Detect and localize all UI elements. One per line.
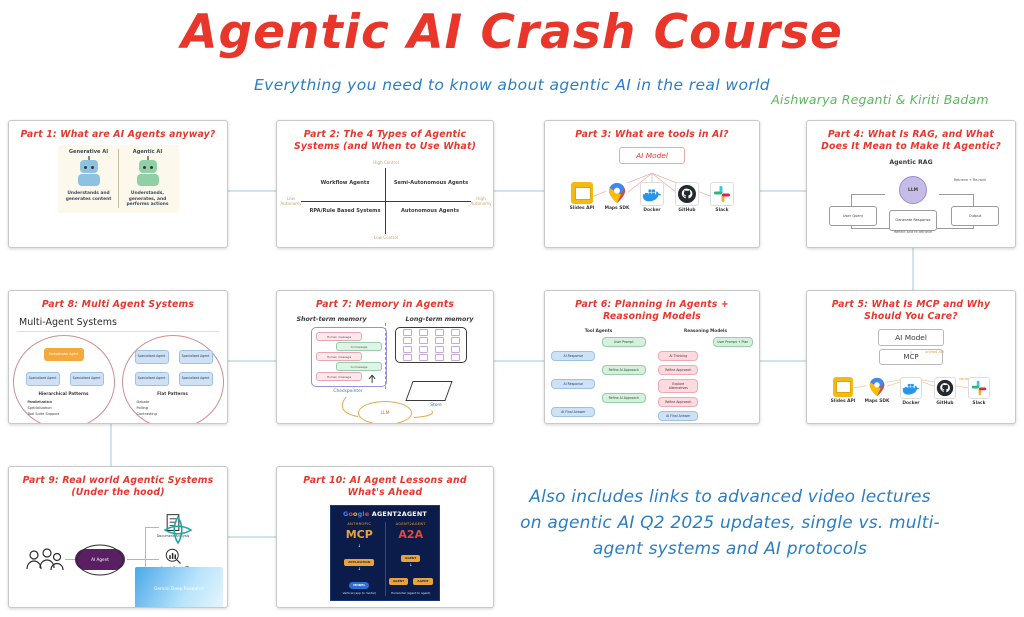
agentic-ai-caption: Understands, generates, and performs act… (119, 191, 177, 208)
short-term-memory-header: Short-term memory (296, 316, 366, 323)
authors-credit: Aishwarya Reganti & Kiriti Badam (750, 92, 1010, 107)
page-title: Agentic AI Crash Course (0, 2, 1024, 64)
tool-label: Slack (709, 208, 735, 213)
agent2agent-word: AGENT2AGENT (372, 510, 427, 518)
card-part-2-body: High Control Low Control Low Autonomy Hi… (277, 158, 493, 242)
burst-star-icon (163, 515, 193, 545)
card-part-9-title: Part 9: Real world Agentic Systems (Unde… (9, 467, 227, 501)
docker-icon (640, 182, 664, 206)
planning-bubble: AI Response (551, 379, 595, 389)
memory-headers: Short-term memory Long-term memory (277, 316, 493, 323)
p9-edge-agent-branch (127, 559, 145, 560)
tool-slack[interactable]: Slack (966, 377, 992, 406)
tool-slack[interactable]: Slack (709, 182, 735, 213)
connector-r2-c7-c8 (228, 360, 276, 362)
rag-edge-top (851, 194, 885, 195)
card-part-7-body: Short-term memory Long-term memory Human… (277, 316, 493, 424)
google-wordmark: Google (343, 510, 369, 518)
tool-label: Maps SDK (604, 206, 630, 211)
connector-r1-c1-c2 (228, 190, 276, 192)
gemini-deep-research-tile: Gemini Deep Research (135, 567, 223, 608)
mcp-chip-model: MODEL (349, 582, 369, 589)
a2a-chip-agent-right: AGENT (413, 578, 432, 585)
mcp-tool-row: Slides API Maps SDK Docker (807, 377, 1015, 406)
axis-label-high-autonomy: High Autonomy (467, 196, 494, 206)
card-part-6-title: Part 6: Planning in Agents + Reasoning M… (545, 291, 759, 325)
reasoning-bubble: Refine Approach (658, 365, 698, 375)
card-part-3[interactable]: Part 3: What are tools in AI? AI Model S… (544, 120, 760, 248)
card-part-5-body: AI Model unified API MCP various APIs Sl… (807, 329, 1015, 424)
connector-r2-c5-c6 (760, 360, 810, 362)
a2a-column: AGENT2AGENT A2A AGENT ↓ AGENT AGENT Hori… (386, 522, 437, 596)
agent2agent-label: AGENT2AGENT (386, 522, 437, 526)
tool-docker[interactable]: Docker (898, 377, 924, 406)
unified-api-label: unified API (925, 350, 944, 354)
github-icon (675, 182, 699, 206)
tool-label: Slack (966, 401, 992, 406)
planning-columns: Tool Agents User Prompt AI Response Refi… (545, 328, 759, 424)
patterns-row: Orchestrator Agent Specialized Agent Spe… (9, 335, 227, 424)
tool-label: Slides API (830, 399, 856, 404)
hierarchical-pattern-circle: Orchestrator Agent Specialized Agent Spe… (13, 335, 115, 424)
rag-node-generate-response: Generate Response (889, 210, 937, 231)
reasoning-bubble: Explore Alternatives (658, 379, 698, 393)
a2a-columns: ANTHROPIC MCP ↓ APPLICATION ↓ MODEL Vert… (334, 522, 436, 596)
card-part-1-body: Generative AI Understands and generates … (9, 145, 227, 213)
hierarchical-bullet-2: Specialization (28, 406, 52, 411)
agentic-rag-heading: Agentic RAG (807, 159, 1015, 166)
maps-pin-icon (606, 182, 628, 204)
flat-agent-node: Specialized Agent (135, 372, 169, 386)
rag-edge-label-retrieve: Retrieve + Re-rank (943, 178, 997, 182)
card-part-7[interactable]: Part 7: Memory in Agents Short-term memo… (276, 290, 494, 424)
hierarchical-pattern-label: Hierarchical Patterns (14, 391, 114, 396)
card-part-10-title: Part 10: AI Agent Lessons and What's Ahe… (277, 467, 493, 501)
agentic-ai-column: Agentic AI Understands, generates, and p… (119, 149, 177, 208)
tool-label: GitHub (932, 401, 958, 406)
down-arrow-icon: ↓ (334, 567, 385, 571)
card-part-10[interactable]: Part 10: AI Agent Lessons and What's Ahe… (276, 466, 494, 608)
reasoning-bubble: Refine Approach (658, 397, 698, 407)
planning-bubble: Refine AI Approach (602, 365, 646, 375)
card-part-4-body: Agentic RAG LLM User Query Generate Resp… (807, 159, 1015, 238)
divider (17, 331, 219, 332)
tool-github[interactable]: GitHub (932, 377, 958, 406)
card-part-8[interactable]: Part 8: Multi Agent Systems Multi-Agent … (8, 290, 228, 424)
robot-blue-icon (74, 158, 104, 188)
card-part-8-body: Multi-Agent Systems Orchestrator Agent S… (9, 313, 227, 424)
tool-label: Docker (898, 401, 924, 406)
card-part-3-title: Part 3: What are tools in AI? (545, 121, 759, 143)
maps-pin-icon (867, 377, 887, 397)
mcp-chip-application: APPLICATION (344, 559, 374, 566)
card-part-4-title: Part 4: What Is RAG, and What Does It Me… (807, 121, 1015, 155)
long-term-memory-header: Long-term memory (406, 316, 474, 323)
connector-c8-down (110, 424, 112, 466)
agentic-ai-header: Agentic AI (119, 149, 177, 155)
card-part-8-title: Part 8: Multi Agent Systems (9, 291, 227, 313)
planning-bubble: AI Final Answer (551, 407, 595, 417)
a2a-chip-agent-top: AGENT (401, 555, 420, 562)
agent-loop-arrow-icon (71, 541, 129, 579)
quadrant-autonomous-agents: Autonomous Agents (395, 208, 465, 215)
quadrant-rpa-rule-based: RPA/Rule Based Systems (309, 208, 381, 215)
docker-icon (900, 377, 922, 399)
tool-label: Maps SDK (864, 399, 890, 404)
quadrant-x-axis (301, 201, 471, 202)
a2a-footnote: Horizontal (agent to agent) (386, 592, 437, 596)
gen-vs-agentic-panel: Generative AI Understands and generates … (58, 145, 179, 213)
reasoning-bubble: User Prompt + Plan (713, 337, 753, 347)
mcp-vs-a2a-panel: Google AGENT2AGENT ANTHROPIC MCP ↓ APPLI… (330, 505, 440, 601)
a2a-chip-agent-left: AGENT (389, 578, 408, 585)
card-part-4[interactable]: Part 4: What Is RAG, and What Does It Me… (806, 120, 1016, 248)
generative-ai-column: Generative AI Understands and generates … (60, 149, 119, 208)
card-part-6[interactable]: Part 6: Planning in Agents + Reasoning M… (544, 290, 760, 424)
flat-pattern-circle: Specialized Agent Specialized Agent Spec… (122, 335, 224, 424)
tool-github[interactable]: GitHub (674, 182, 700, 213)
axis-label-low-autonomy: Low Autonomy (277, 196, 305, 206)
flat-agent-node: Specialized Agent (179, 372, 213, 386)
mcp-column: ANTHROPIC MCP ↓ APPLICATION ↓ MODEL Vert… (334, 522, 386, 596)
slides-icon (833, 377, 853, 397)
slack-icon (710, 182, 734, 206)
rag-node-output: Output (951, 206, 999, 226)
reasoning-models-column: Reasoning Models User Prompt + Plan AI T… (656, 328, 754, 424)
reasoning-bubble: AI Final Answer (658, 411, 698, 421)
card-part-1[interactable]: Part 1: What are AI Agents anyway? Gener… (8, 120, 228, 248)
robot-green-icon (133, 158, 163, 188)
planning-bubble: AI Response (551, 351, 595, 361)
flat-pattern-label: Flat Patterns (123, 391, 223, 396)
down-arrow-icon: ↓ (334, 544, 385, 548)
mcp-ai-model-box: AI Model (878, 329, 944, 346)
hierarchical-bullet-3: Tool Suite Support (28, 412, 60, 417)
card-part-6-body: Tool Agents User Prompt AI Response Refi… (545, 328, 759, 424)
flat-agent-node: Specialized Agent (135, 350, 169, 364)
tool-row: Slides API Maps SDK Docker (545, 182, 759, 213)
axis-label-low-control: Low Control (361, 235, 411, 240)
tool-agents-column: Tool Agents User Prompt AI Response Refi… (549, 328, 647, 424)
generative-ai-caption: Understands and generates content (60, 191, 118, 202)
connector-r1-c2-c3 (494, 190, 544, 192)
rag-bottom-label: Reflect and re-retrieve (863, 230, 963, 234)
slack-icon (968, 377, 990, 399)
card-part-1-title: Part 1: What are AI Agents anyway? (9, 121, 227, 143)
quadrant-workflow-agents: Workflow Agents (313, 180, 377, 187)
rag-node-user-query: User Query (829, 206, 877, 226)
flat-bullet-2: Polling (137, 406, 148, 411)
tool-label: GitHub (674, 208, 700, 213)
flat-caption: More dynamic/creative (123, 422, 223, 424)
specialized-agent-node: Specialized Agent (26, 372, 60, 386)
memory-diagram: Human message AI message Human message A… (277, 323, 493, 424)
tool-agents-header: Tool Agents (549, 328, 647, 333)
hierarchical-caption: More controllable (14, 422, 114, 424)
card-part-2-title: Part 2: The 4 Types of Agentic Systems (… (277, 121, 493, 155)
card-part-2[interactable]: Part 2: The 4 Types of Agentic Systems (… (276, 120, 494, 248)
bottom-note: Also includes links to advanced video le… (520, 484, 940, 562)
connector-r2-c6-c7 (494, 360, 544, 362)
agentic-rag-diagram: LLM User Query Generate Response Output … (807, 166, 1015, 238)
anthropic-label: ANTHROPIC (334, 522, 385, 526)
reasoning-models-header: Reasoning Models (656, 328, 754, 333)
reasoning-bubble: AI Thinking (658, 351, 698, 361)
flat-bullet-3: Contrasting (137, 412, 157, 417)
mcp-footnote: Vertical (app to model) (334, 592, 385, 596)
card-part-7-title: Part 7: Memory in Agents (277, 291, 493, 313)
card-part-9-body: AI Agent Document Analysis Search/Result… (9, 501, 227, 608)
axis-label-high-control: High Control (361, 160, 411, 165)
tool-slides-api[interactable]: Slides API (830, 377, 856, 406)
a2a-heading: A2A (386, 528, 437, 541)
tool-label: Slides API (569, 206, 595, 211)
rag-edge-right-top (939, 194, 973, 195)
github-icon (934, 377, 956, 399)
rag-llm-node: LLM (899, 176, 927, 204)
a2a-panel-header: Google AGENT2AGENT (334, 510, 436, 518)
card-part-5-title: Part 5: What Is MCP and Why Should You C… (807, 291, 1015, 325)
generative-ai-header: Generative AI (60, 149, 118, 155)
ai-model-box: AI Model (619, 147, 685, 164)
real-world-diagram: AI Agent Document Analysis Search/Result… (9, 501, 227, 608)
hierarchical-bullet-1: Parallelization (28, 400, 52, 405)
flat-bullet-1: Debate (137, 400, 150, 405)
tool-label: Docker (639, 208, 665, 213)
tool-maps-sdk[interactable]: Maps SDK (864, 377, 890, 406)
memory-llm-node: LLM (358, 401, 412, 424)
specialized-agent-node: Specialized Agent (70, 372, 104, 386)
a2a-agent-row: AGENT AGENT (386, 567, 437, 586)
card-part-10-body: Google AGENT2AGENT ANTHROPIC MCP ↓ APPLI… (277, 505, 493, 601)
orchestrator-agent-node: Orchestrator Agent (44, 348, 84, 361)
users-icon (25, 547, 65, 573)
quadrant-semi-autonomous-agents: Semi-Autonomous Agents (393, 180, 469, 187)
tool-docker[interactable]: Docker (639, 182, 665, 213)
card-part-5[interactable]: Part 5: What Is MCP and Why Should You C… (806, 290, 1016, 424)
card-part-9[interactable]: Part 9: Real world Agentic Systems (Unde… (8, 466, 228, 608)
quadrant-chart: High Control Low Control Low Autonomy Hi… (277, 158, 493, 242)
poster-canvas: Agentic AI Crash Course Everything you n… (0, 0, 1024, 617)
connector-r1-c3-c4 (760, 190, 806, 192)
quadrant-y-axis (385, 168, 386, 234)
card-part-3-body: AI Model Slides API (545, 147, 759, 247)
planning-bubble: User Prompt (602, 337, 646, 347)
planning-bubble: Refine AI Approach (602, 393, 646, 403)
slides-icon (571, 182, 593, 204)
multi-agent-heading: Multi-Agent Systems (9, 313, 227, 328)
flat-agent-node: Specialized Agent (179, 350, 213, 364)
mcp-heading: MCP (334, 528, 385, 541)
tool-slides-api[interactable]: Slides API (569, 182, 595, 213)
connector-r3-c9-c10 (228, 536, 276, 538)
tool-maps-sdk[interactable]: Maps SDK (604, 182, 630, 213)
